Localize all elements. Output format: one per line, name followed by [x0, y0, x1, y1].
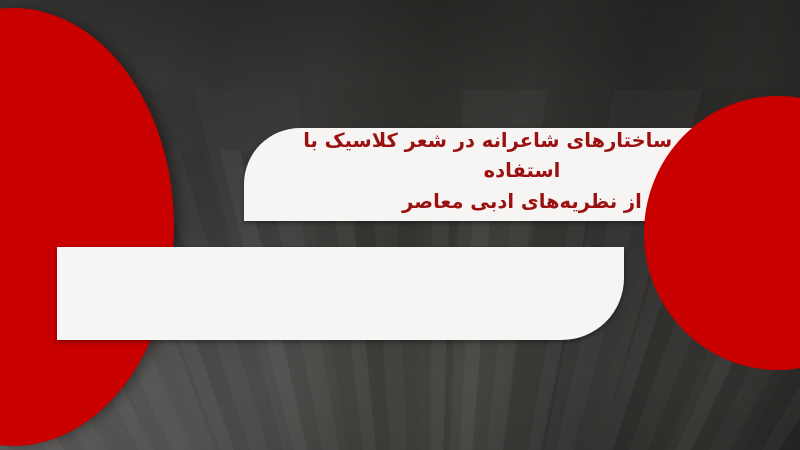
- body-panel: [57, 247, 624, 340]
- presentation-slide: ترسیم ساختارهای شاعرانه در شعر کلاسیک با…: [0, 0, 800, 450]
